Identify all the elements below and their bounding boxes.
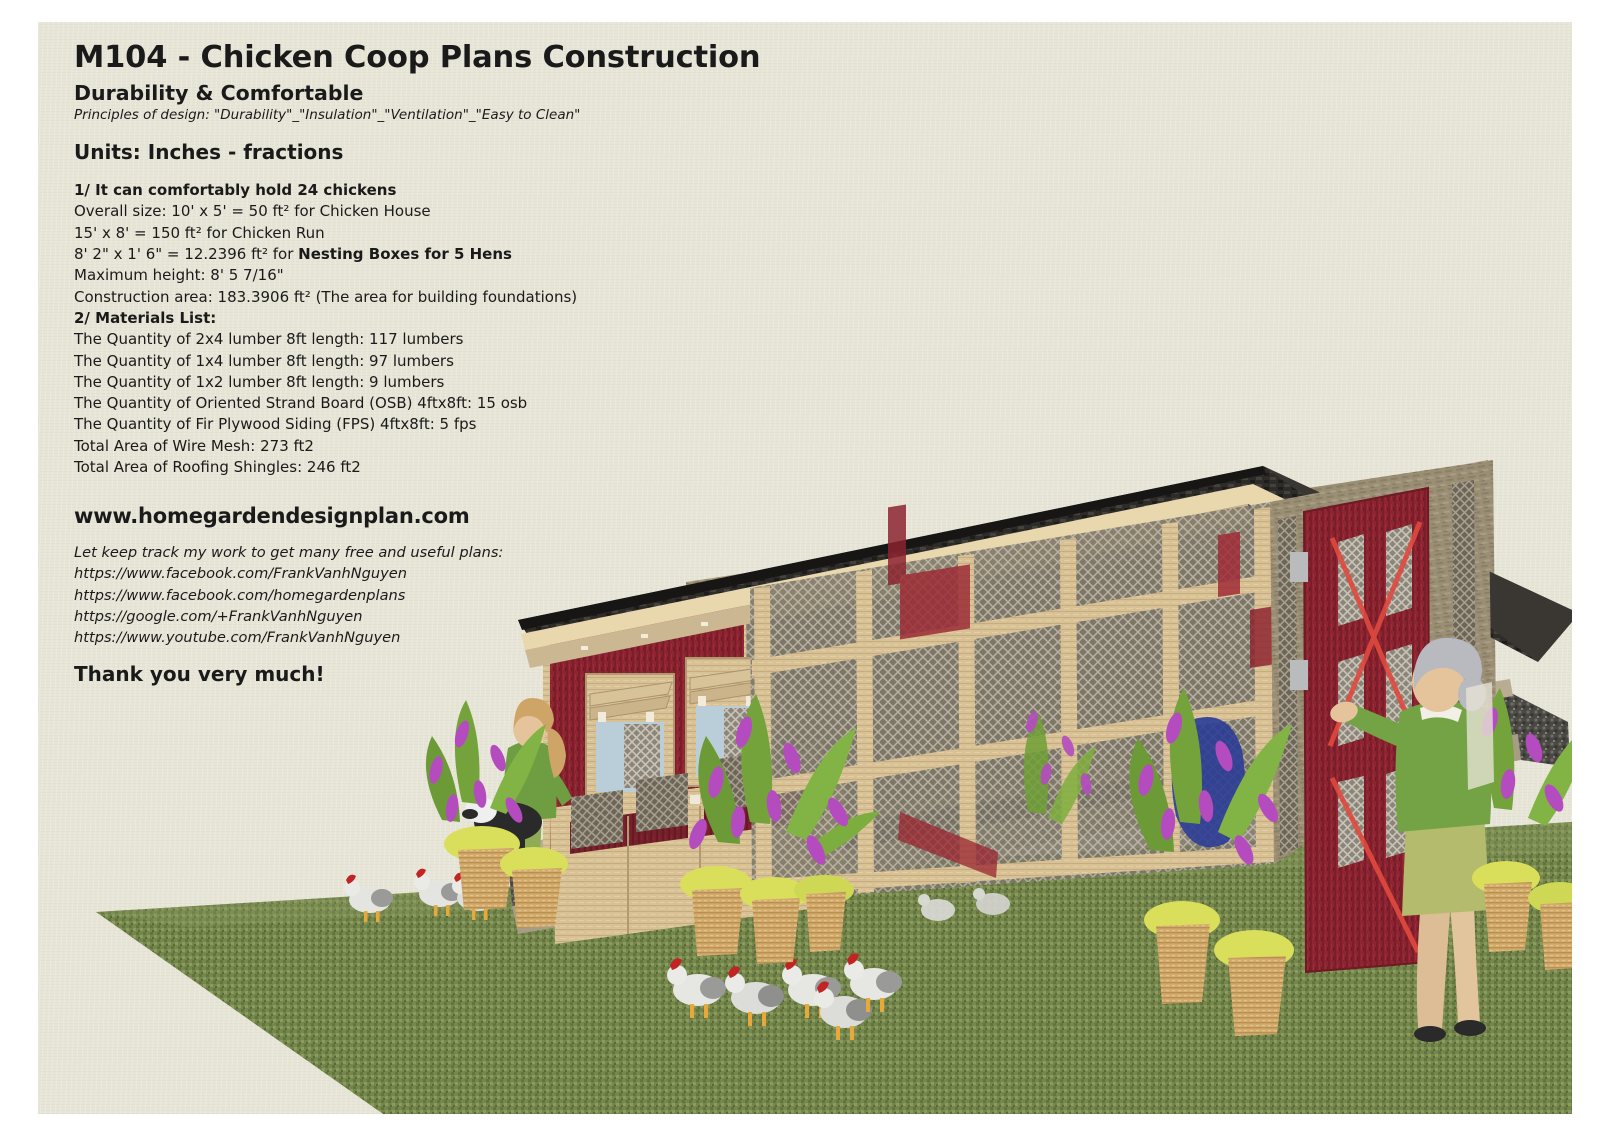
design-principles: Principles of design: "Durability"_"Insu… <box>74 107 834 124</box>
section2-heading: 2/ Materials List: <box>74 308 834 329</box>
spec-run-size: 15' x 8' = 150 ft² for Chicken Run <box>74 223 834 244</box>
material-1x4: The Quantity of 1x4 lumber 8ft length: 9… <box>74 351 834 372</box>
spec-overall-size: Overall size: 10' x 5' = 50 ft² for Chic… <box>74 201 834 222</box>
spec-nesting-boxes: 8' 2" x 1' 6" = 12.2396 ft² for Nesting … <box>74 244 834 265</box>
material-wire-mesh: Total Area of Wire Mesh: 273 ft2 <box>74 436 834 457</box>
link-google[interactable]: https://google.com/+FrankVanhNguyen <box>74 606 834 627</box>
spec-construction-area: Construction area: 183.3906 ft² (The are… <box>74 287 834 308</box>
thank-you-note: Thank you very much! <box>74 662 834 686</box>
right-wall-panel <box>1466 682 1494 790</box>
link-facebook-frank[interactable]: https://www.facebook.com/FrankVanhNguyen <box>74 563 834 584</box>
spec-nesting-prefix: 8' 2" x 1' 6" = 12.2396 ft² for <box>74 245 298 263</box>
follow-intro: Let keep track my work to get many free … <box>74 542 834 563</box>
material-osb: The Quantity of Oriented Strand Board (O… <box>74 393 834 414</box>
section1-heading: 1/ It can comfortably hold 24 chickens <box>74 180 834 201</box>
spec-max-height: Maximum height: 8' 5 7/16" <box>74 265 834 286</box>
material-shingles: Total Area of Roofing Shingles: 246 ft2 <box>74 457 834 478</box>
link-facebook-plans[interactable]: https://www.facebook.com/homegardenplans <box>74 585 834 606</box>
link-youtube[interactable]: https://www.youtube.com/FrankVanhNguyen <box>74 627 834 648</box>
page-title: M104 - Chicken Coop Plans Construction <box>74 40 834 75</box>
page-subtitle: Durability & Comfortable <box>74 81 834 105</box>
plan-text-column: M104 - Chicken Coop Plans Construction D… <box>74 40 834 686</box>
plan-sheet: M104 - Chicken Coop Plans Construction D… <box>38 22 1572 1114</box>
material-2x4: The Quantity of 2x4 lumber 8ft length: 1… <box>74 329 834 350</box>
website-url[interactable]: www.homegardendesignplan.com <box>74 504 834 528</box>
material-fps: The Quantity of Fir Plywood Siding (FPS)… <box>74 414 834 435</box>
units-heading: Units: Inches - fractions <box>74 140 834 164</box>
spec-nesting-bold: Nesting Boxes for 5 Hens <box>298 245 512 263</box>
material-1x2: The Quantity of 1x2 lumber 8ft length: 9… <box>74 372 834 393</box>
